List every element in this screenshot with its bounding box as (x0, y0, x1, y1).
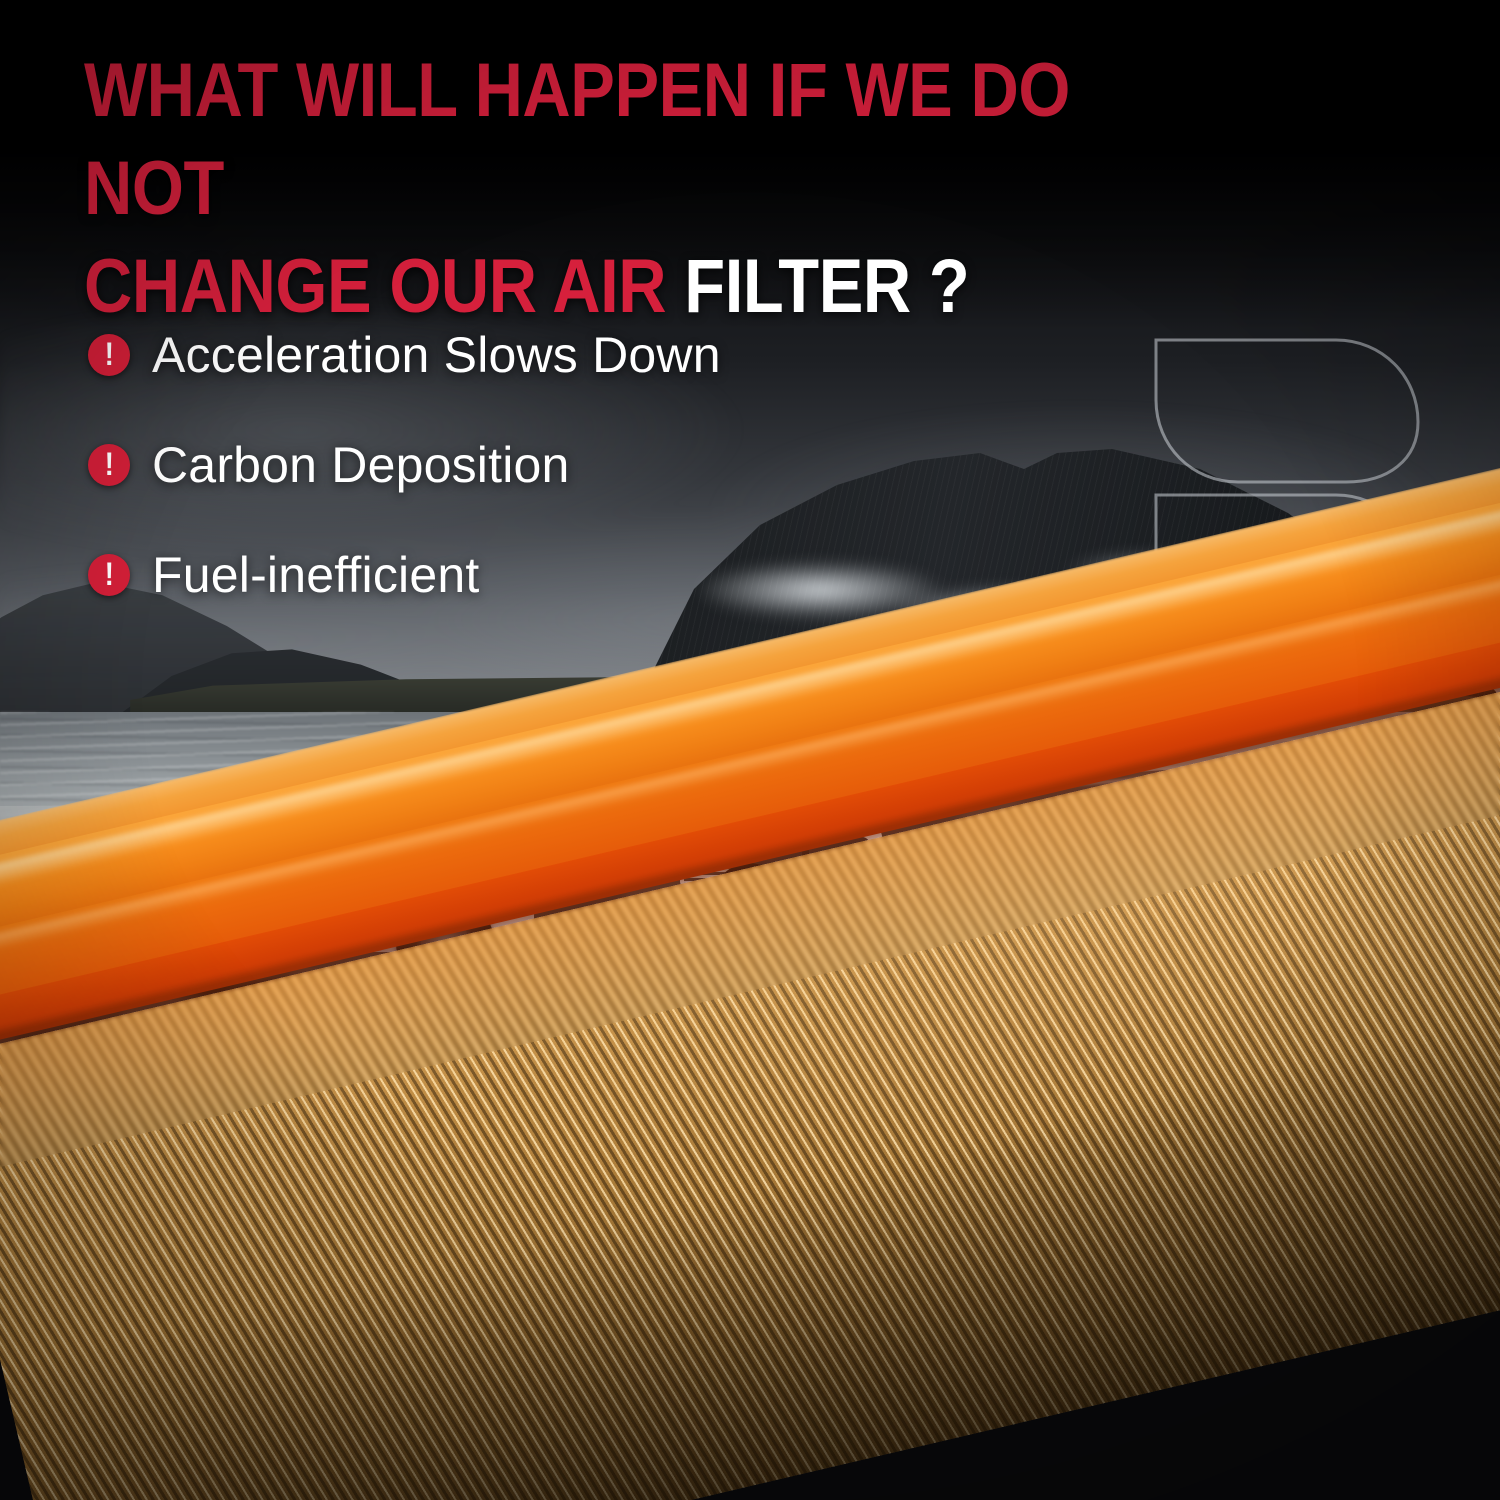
list-item: ! Carbon Deposition (88, 410, 988, 520)
page-title: WHAT WILL HAPPEN IF WE DO NOT CHANGE OUR… (84, 42, 1210, 336)
exclamation-glyph: ! (104, 448, 113, 480)
list-item: ! Fuel-inefficient (88, 520, 988, 630)
exclamation-glyph: ! (104, 338, 113, 370)
symptom-list: ! Acceleration Slows Down ! Carbon Depos… (88, 300, 988, 630)
promo-infographic-canvas: WHAT WILL HAPPEN IF WE DO NOT CHANGE OUR… (0, 0, 1500, 1500)
exclamation-circle-icon: ! (88, 444, 130, 486)
list-item-label: Fuel-inefficient (152, 547, 479, 603)
list-item: ! Acceleration Slows Down (88, 300, 988, 410)
exclamation-circle-icon: ! (88, 554, 130, 596)
headline-line-1: WHAT WILL HAPPEN IF WE DO NOT (84, 48, 1070, 231)
list-item-label: Carbon Deposition (152, 437, 570, 493)
exclamation-circle-icon: ! (88, 334, 130, 376)
exclamation-glyph: ! (104, 558, 113, 590)
list-item-label: Acceleration Slows Down (152, 327, 721, 383)
